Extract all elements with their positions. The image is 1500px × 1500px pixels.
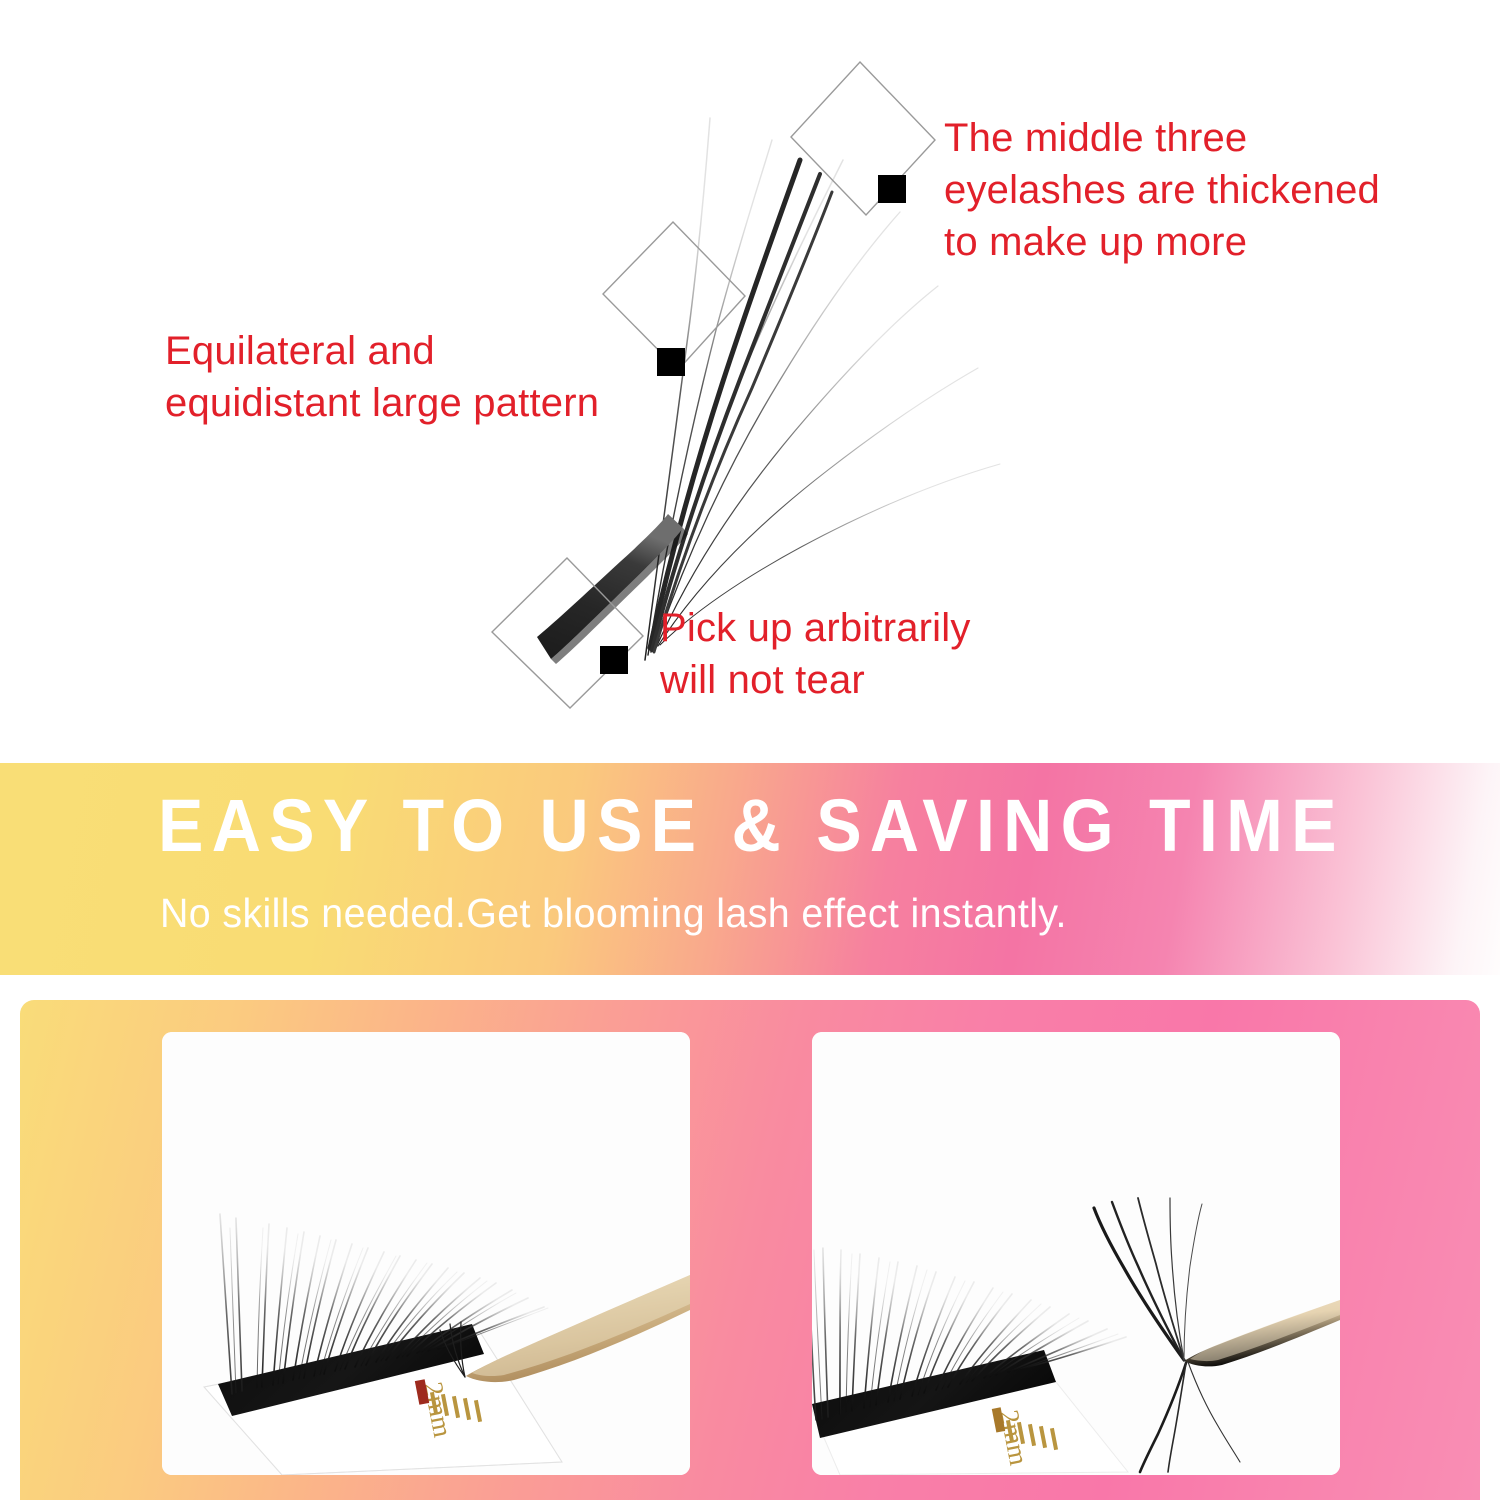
callout-text-equilateral-pattern: Equilateral and equidistant large patter…	[165, 325, 645, 429]
photo-card-lash-tray-tweezers: 2mm	[162, 1032, 690, 1475]
marker-square-icon	[878, 175, 906, 203]
callout-text-pick-up-no-tear: Pick up arbitrarily will not tear	[660, 602, 1060, 706]
photo-lash-tray-fan-pickup: 2mm	[812, 1032, 1340, 1475]
headline-banner: EASY TO USE & SAVING TIME No skills need…	[0, 763, 1500, 975]
photo-card-lash-tray-fan-pickup: 2mm	[812, 1032, 1340, 1475]
lash-diagram-section: The middle three eyelashes are thickened…	[0, 0, 1500, 763]
callout-text-middle-three-thickened: The middle three eyelashes are thickened…	[944, 112, 1414, 268]
photo-lash-tray-tweezers: 2mm	[162, 1032, 690, 1475]
marker-square-icon	[657, 348, 685, 376]
banner-title: EASY TO USE & SAVING TIME	[158, 785, 1345, 866]
marker-square-icon	[600, 646, 628, 674]
thick-middle-lashes	[650, 160, 832, 652]
product-photo-gallery: 2mm	[20, 1000, 1480, 1500]
banner-subtitle: No skills needed.Get blooming lash effec…	[160, 890, 1067, 937]
